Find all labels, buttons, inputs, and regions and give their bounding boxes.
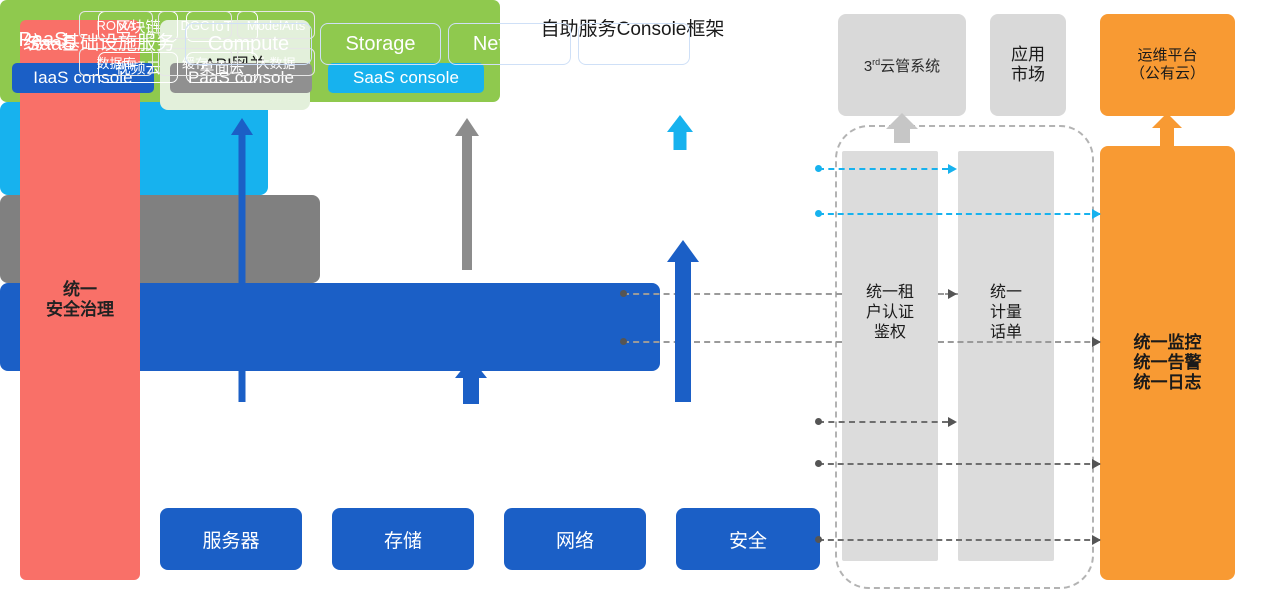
security-governance-label: 统一 安全治理 xyxy=(46,280,114,320)
connector-arrowhead xyxy=(1092,535,1101,545)
unified-infrastructure-label: 统一基础设施服务 xyxy=(14,28,184,55)
arrow-saas-to-console xyxy=(667,115,693,148)
app-market-label: 应用 市场 xyxy=(1011,45,1045,85)
ops-platform-top-box: 运维平台 （公有云） xyxy=(1100,14,1235,116)
connector-arrowhead xyxy=(948,289,957,299)
shared-service-metering-label: 统一 计量 话单 xyxy=(958,283,1054,343)
connector-arrowhead xyxy=(1092,337,1101,347)
connector-dot xyxy=(815,536,822,543)
connector-dot xyxy=(620,290,627,297)
arrow-infra-to-api-gateway xyxy=(231,118,253,402)
hardware-box-server[interactable]: 服务器 xyxy=(160,508,302,570)
connector-arrowhead xyxy=(948,417,957,427)
connector-dot xyxy=(620,338,627,345)
third-party-cloud-mgmt-box: 3rd云管系统 xyxy=(838,14,966,116)
connector-dot xyxy=(815,460,822,467)
architecture-diagram: 统一 安全治理 API网关 自助服务Console框架 IaaS console… xyxy=(0,0,1265,605)
app-market-box: 应用 市场 xyxy=(990,14,1066,116)
arrow-infra-to-saas xyxy=(667,240,699,402)
connector-dot xyxy=(815,210,822,217)
connector-arrowhead xyxy=(1092,459,1101,469)
infra-chip-network[interactable]: Network xyxy=(448,23,571,65)
ops-platform-body-box: 统一监控 统一告警 统一日志 xyxy=(1100,146,1235,580)
hardware-box-network[interactable]: 网络 xyxy=(504,508,646,570)
connector-paas-to-auth xyxy=(623,293,842,295)
infra-chip-compute[interactable]: Compute xyxy=(185,23,312,65)
arrow-to-ops-platform xyxy=(1152,113,1182,147)
connector-hardware-to-ops xyxy=(818,539,1100,541)
infra-chip-cce[interactable]: CCE xyxy=(578,23,690,65)
connector-infra-to-ops xyxy=(818,463,1100,465)
connector-paas-to-ops-a xyxy=(623,341,842,343)
security-governance-pillar: 统一 安全治理 xyxy=(20,20,140,580)
connector-paas-to-ops-b xyxy=(938,341,1100,343)
connector-dot xyxy=(815,165,822,172)
connector-dot xyxy=(815,418,822,425)
hardware-box-storage[interactable]: 存储 xyxy=(332,508,474,570)
connector-saas-to-ops xyxy=(818,213,1100,215)
ops-platform-top-label: 运维平台 （公有云） xyxy=(1130,47,1205,82)
infra-chip-storage[interactable]: Storage xyxy=(320,23,441,65)
arrow-infra-to-paas xyxy=(455,358,487,402)
connector-arrowhead xyxy=(1092,209,1101,219)
third-party-label: 3rd云管系统 xyxy=(864,55,940,76)
shared-service-auth-label: 统一租 户认证 鉴权 xyxy=(842,283,938,343)
hardware-box-security[interactable]: 安全 xyxy=(676,508,820,570)
arrow-paas-to-console xyxy=(455,118,479,270)
connector-infra-to-metering xyxy=(818,421,948,423)
connector-arrowhead xyxy=(948,164,957,174)
connector-saas-to-metering xyxy=(818,168,948,170)
saas-console-chip[interactable]: SaaS console xyxy=(328,63,484,93)
arrow-to-third-party xyxy=(886,113,918,141)
ops-platform-body-label: 统一监控 统一告警 统一日志 xyxy=(1134,333,1202,393)
